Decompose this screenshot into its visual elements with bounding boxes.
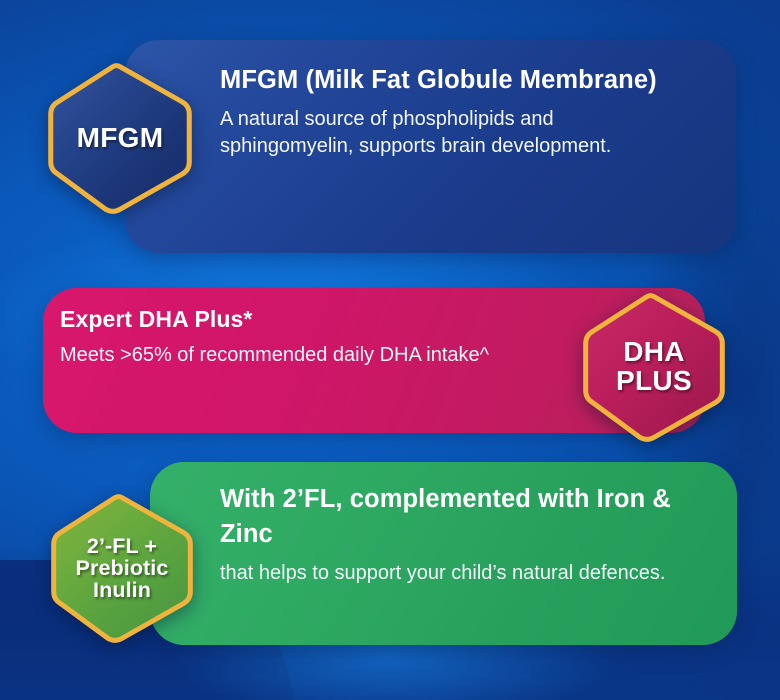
benefit-body-prebiotic: that helps to support your child’s natur…	[220, 560, 720, 587]
benefit-text-prebiotic: With 2’FL, complemented with Iron & Zinc…	[220, 482, 720, 587]
benefit-card-prebiotic: With 2’FL, complemented with Iron & Zinc…	[150, 462, 737, 645]
benefit-text-dha: Expert DHA Plus* Meets >65% of recommend…	[60, 304, 570, 369]
dha-badge-label: DHA PLUS	[616, 338, 692, 396]
benefit-card-mfgm: MFGM (Milk Fat Globule Membrane) A natur…	[125, 40, 736, 253]
infographic-canvas: MFGM (Milk Fat Globule Membrane) A natur…	[0, 0, 780, 700]
mfgm-hexagon-badge: MFGM	[46, 62, 194, 214]
benefit-text-mfgm: MFGM (Milk Fat Globule Membrane) A natur…	[220, 62, 690, 159]
benefit-headline-prebiotic: With 2’FL, complemented with Iron & Zinc	[220, 482, 720, 552]
benefit-body-mfgm: A natural source of phospholipids and sp…	[220, 106, 690, 159]
dha-plus-hexagon-badge: DHA PLUS	[581, 292, 727, 442]
benefit-body-dha: Meets >65% of recommended daily DHA inta…	[60, 342, 570, 369]
benefit-headline-mfgm: MFGM (Milk Fat Globule Membrane)	[220, 62, 690, 99]
benefit-headline-dha: Expert DHA Plus*	[60, 304, 570, 335]
mfgm-badge-label: MFGM	[77, 124, 164, 153]
prebiotic-badge-label: 2’-FL + Prebiotic Inulin	[76, 535, 169, 601]
prebiotic-inulin-hexagon-badge: 2’-FL + Prebiotic Inulin	[49, 493, 195, 643]
